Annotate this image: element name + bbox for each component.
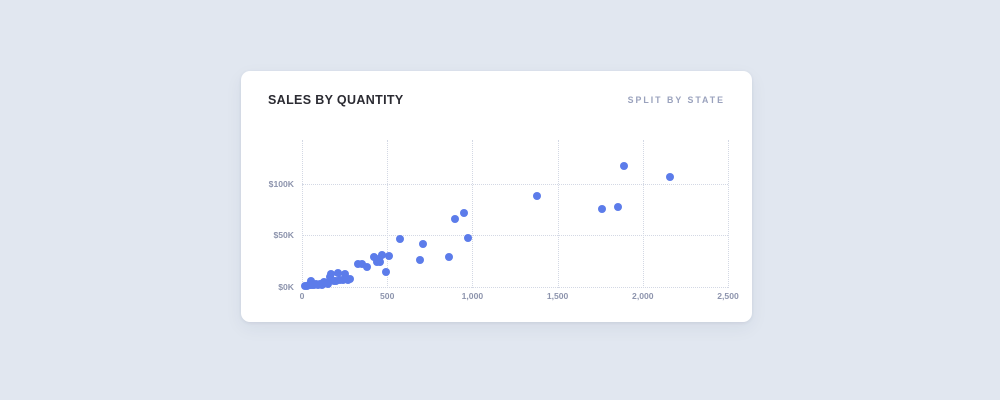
scatter-point[interactable] — [445, 253, 453, 261]
gridline-vertical — [643, 140, 644, 288]
scatter-plot[interactable]: 05001,0001,5002,0002,500$0K$50K$100K — [241, 71, 752, 322]
gridline-vertical — [728, 140, 729, 288]
scatter-point[interactable] — [451, 215, 459, 223]
gridline-vertical — [558, 140, 559, 288]
scatter-point[interactable] — [396, 235, 404, 243]
scatter-point[interactable] — [666, 173, 674, 181]
y-axis-tick-label: $0K — [278, 282, 294, 292]
y-axis-tick-label: $50K — [273, 230, 294, 240]
gridline-horizontal — [302, 184, 728, 185]
x-axis-tick-label: 2,500 — [717, 291, 739, 301]
scatter-point[interactable] — [533, 192, 541, 200]
x-axis-tick-label: 0 — [300, 291, 305, 301]
x-axis-tick-label: 2,000 — [632, 291, 654, 301]
scatter-point[interactable] — [416, 256, 424, 264]
gridline-vertical — [472, 140, 473, 288]
scatter-point[interactable] — [385, 252, 393, 260]
sales-by-quantity-card: SALES BY QUANTITY SPLIT BY STATE 05001,0… — [241, 71, 752, 322]
scatter-point[interactable] — [614, 203, 622, 211]
scatter-point[interactable] — [419, 240, 427, 248]
x-axis-tick-label: 500 — [380, 291, 394, 301]
scatter-point[interactable] — [382, 268, 390, 276]
scatter-point[interactable] — [460, 209, 468, 217]
scatter-point[interactable] — [363, 263, 371, 271]
screen: SALES BY QUANTITY SPLIT BY STATE 05001,0… — [0, 0, 1000, 400]
scatter-point[interactable] — [620, 162, 628, 170]
gridline-horizontal — [302, 235, 728, 236]
gridline-horizontal — [302, 287, 728, 288]
y-axis-tick-label: $100K — [269, 179, 294, 189]
scatter-point[interactable] — [346, 275, 354, 283]
scatter-point[interactable] — [598, 205, 606, 213]
x-axis-tick-label: 1,000 — [462, 291, 484, 301]
gridline-vertical — [302, 140, 303, 288]
x-axis-tick-label: 1,500 — [547, 291, 569, 301]
gridline-vertical — [387, 140, 388, 288]
scatter-point[interactable] — [464, 234, 472, 242]
